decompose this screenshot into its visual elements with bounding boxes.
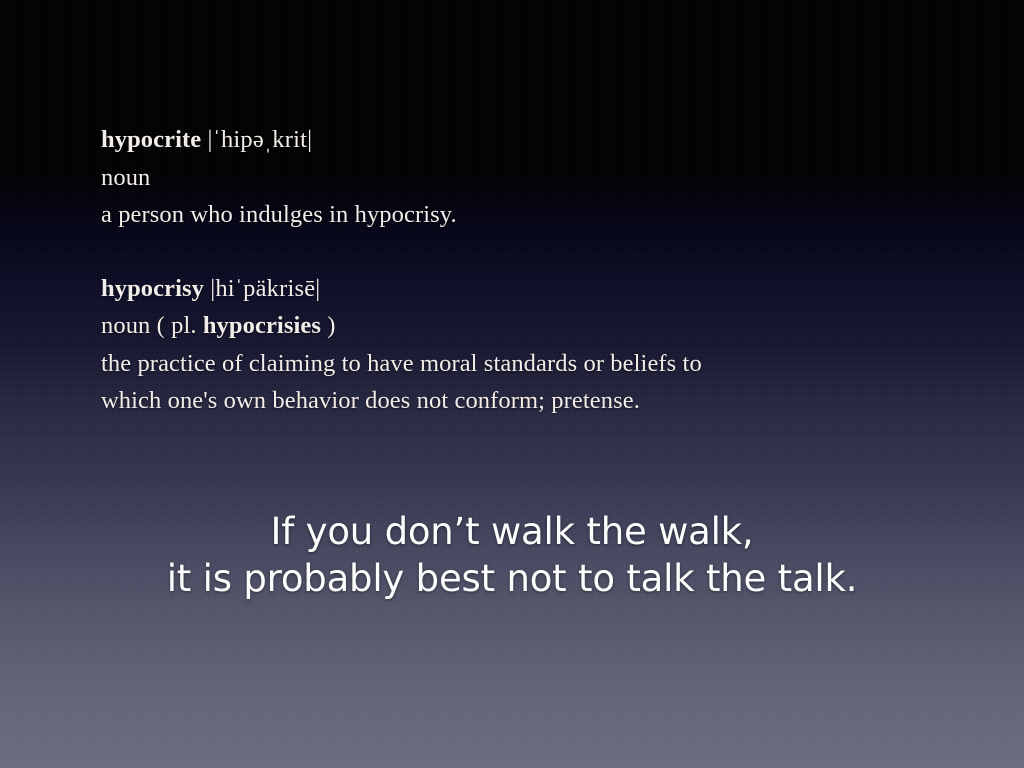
dictionary-entry-hypocrisy: hypocrisy |hiˈpäkrisē| noun ( pl. hypocr… (101, 270, 961, 420)
pronunciation-hypocrite: |ˈhipəˌkrit| (207, 126, 312, 153)
dictionary-definitions-block: hypocrite |ˈhipəˌkrit| noun a person who… (101, 121, 961, 420)
slide-canvas: hypocrite |ˈhipəˌkrit| noun a person who… (0, 0, 1024, 768)
plural-form-hypocrisies: hypocrisies (203, 312, 321, 339)
headword-hypocrisy: hypocrisy (101, 275, 204, 302)
entry-headword-line: hypocrisy |hiˈpäkrisē| (101, 270, 961, 308)
quote-line-2: it is probably best not to talk the talk… (0, 555, 1024, 602)
part-of-speech-suffix: ) (327, 312, 335, 339)
quote-line-1: If you don’t walk the walk, (0, 508, 1024, 555)
quote-block: If you don’t walk the walk, it is probab… (0, 508, 1024, 602)
dictionary-entry-hypocrite: hypocrite |ˈhipəˌkrit| noun a person who… (101, 121, 961, 234)
part-of-speech-hypocrisy-line: noun ( pl. hypocrisies ) (101, 307, 961, 345)
headword-hypocrite: hypocrite (101, 126, 201, 153)
part-of-speech-prefix: noun ( pl. (101, 312, 197, 339)
definition-hypocrite: a person who indulges in hypocrisy. (101, 196, 961, 234)
definition-hypocrisy-line-1: the practice of claiming to have moral s… (101, 345, 961, 383)
definition-hypocrisy-line-2: which one's own behavior does not confor… (101, 382, 961, 420)
pronunciation-hypocrisy: |hiˈpäkrisē| (210, 275, 320, 302)
part-of-speech-hypocrite: noun (101, 159, 961, 197)
entry-headword-line: hypocrite |ˈhipəˌkrit| (101, 121, 961, 159)
